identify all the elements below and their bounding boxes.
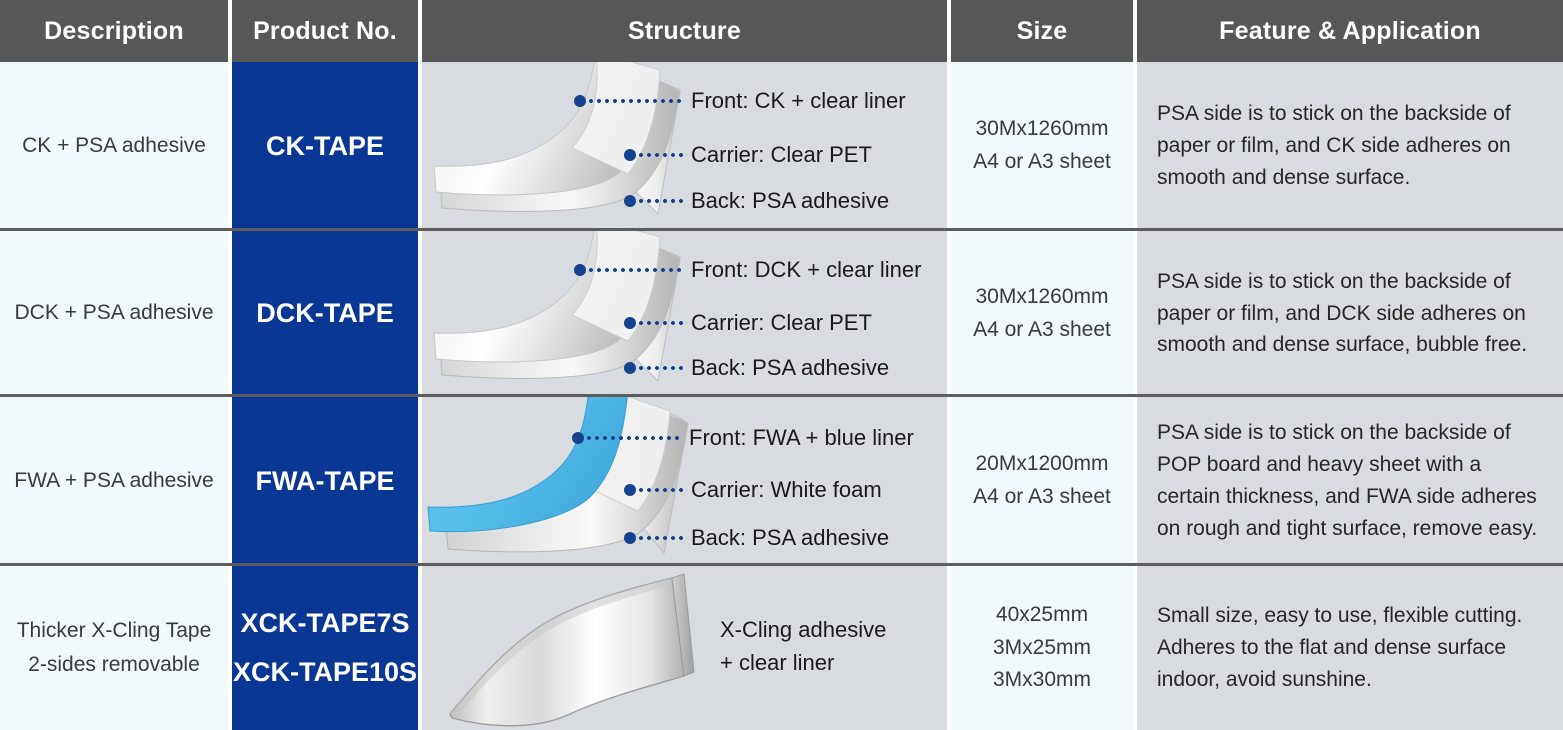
- table-row: CK + PSA adhesive: [0, 62, 228, 230]
- layered-sheet-illustration: [422, 231, 947, 396]
- feature-cell: PSA side is to stick on the backside of …: [1137, 62, 1563, 230]
- size-cell: 30Mx1260mm A4 or A3 sheet: [951, 231, 1133, 396]
- description-text: DCK + PSA adhesive: [14, 298, 213, 328]
- size-cell: 40x25mm 3Mx25mm 3Mx30mm: [951, 566, 1133, 730]
- table-row: Thicker X-Cling Tape2-sides removable: [0, 566, 228, 730]
- structure-label-line: X-Cling adhesive: [720, 617, 886, 642]
- structure-diagram-xck: X-Cling adhesive + clear liner: [422, 566, 947, 730]
- feature-text: PSA side is to stick on the backside of …: [1157, 98, 1541, 194]
- description-text: FWA + PSA adhesive: [14, 466, 213, 496]
- feature-cell: PSA side is to stick on the backside of …: [1137, 231, 1563, 396]
- structure-diagram-dck: Front: DCK + clear liner Carrier: Clear …: [422, 231, 947, 396]
- product-comparison-table: Description Product No. Structure Size F…: [0, 0, 1563, 730]
- product-no-badge[interactable]: DCK-TAPE: [232, 231, 418, 396]
- table-row: DCK + PSA adhesive: [0, 231, 228, 396]
- size-line: A4 or A3 sheet: [973, 146, 1111, 179]
- product-no-badge[interactable]: FWA-TAPE: [232, 397, 418, 565]
- description-text: Thicker X-Cling Tape2-sides removable: [17, 614, 212, 681]
- column-header-label: Size: [1017, 17, 1068, 46]
- product-no-label: FWA-TAPE: [256, 468, 395, 495]
- column-header-label: Structure: [628, 17, 741, 46]
- product-no-label: XCK-TAPE7S: [240, 610, 409, 637]
- product-no-label: DCK-TAPE: [256, 300, 394, 327]
- column-header-description: Description: [0, 0, 228, 62]
- feature-text: Small size, easy to use, flexible cuttin…: [1157, 600, 1541, 696]
- column-header-feature: Feature & Application: [1137, 0, 1563, 62]
- structure-label-line: + clear liner: [720, 650, 834, 675]
- size-line: 30Mx1260mm: [975, 113, 1108, 146]
- size-line: A4 or A3 sheet: [973, 314, 1111, 347]
- feature-text: PSA side is to stick on the backside of …: [1157, 266, 1541, 362]
- size-line: 3Mx25mm: [993, 632, 1091, 665]
- description-text: CK + PSA adhesive: [22, 131, 206, 161]
- feature-cell: PSA side is to stick on the backside of …: [1137, 397, 1563, 565]
- layered-sheet-illustration: [422, 397, 947, 565]
- product-no-label: CK-TAPE: [266, 133, 384, 160]
- layered-sheet-illustration: [422, 62, 947, 230]
- product-no-badge[interactable]: CK-TAPE: [232, 62, 418, 230]
- product-no-badge[interactable]: XCK-TAPE7S XCK-TAPE10S: [232, 566, 418, 730]
- size-line: 40x25mm: [996, 599, 1088, 632]
- column-header-label: Feature & Application: [1219, 17, 1481, 46]
- size-cell: 30Mx1260mm A4 or A3 sheet: [951, 62, 1133, 230]
- size-line: 30Mx1260mm: [975, 281, 1108, 314]
- product-no-label: XCK-TAPE10S: [233, 659, 417, 686]
- size-line: 3Mx30mm: [993, 664, 1091, 697]
- column-header-label: Description: [44, 17, 184, 46]
- feature-cell: Small size, easy to use, flexible cuttin…: [1137, 566, 1563, 730]
- column-header-size: Size: [951, 0, 1133, 62]
- size-line: A4 or A3 sheet: [973, 481, 1111, 514]
- structure-diagram-fwa: Front: FWA + blue liner Carrier: White f…: [422, 397, 947, 565]
- table-row: FWA + PSA adhesive: [0, 397, 228, 565]
- column-header-label: Product No.: [253, 17, 397, 46]
- feature-text: PSA side is to stick on the backside of …: [1157, 417, 1541, 545]
- structure-diagram-ck: Front: CK + clear liner Carrier: Clear P…: [422, 62, 947, 230]
- column-header-product-no: Product No.: [232, 0, 418, 62]
- size-line: 20Mx1200mm: [975, 448, 1108, 481]
- size-cell: 20Mx1200mm A4 or A3 sheet: [951, 397, 1133, 565]
- structure-plain-label: X-Cling adhesive + clear liner: [720, 613, 886, 679]
- column-header-structure: Structure: [422, 0, 947, 62]
